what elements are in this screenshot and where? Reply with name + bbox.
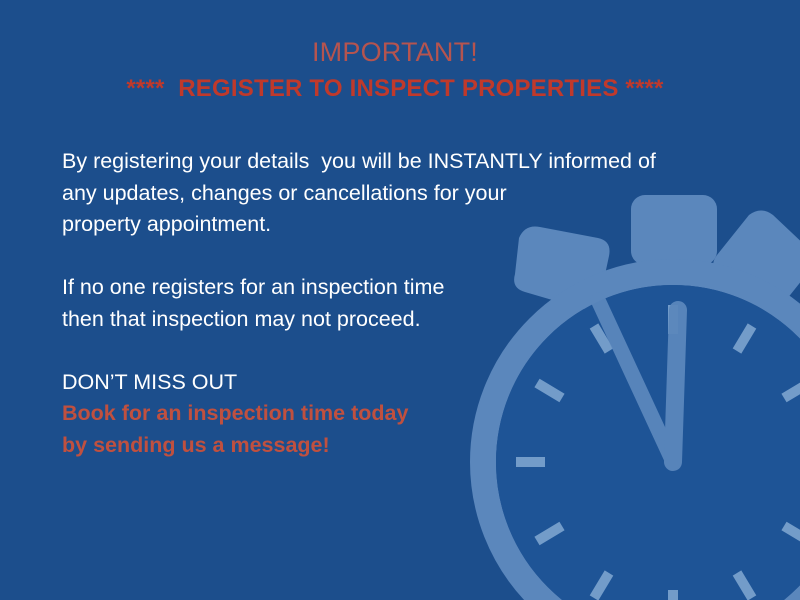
slide-canvas: IMPORTANT! **** REGISTER TO INSPECT PROP… xyxy=(0,0,800,600)
paragraph-dont-miss-out: DON’T MISS OUT xyxy=(62,367,722,399)
slide-text-content: IMPORTANT! **** REGISTER TO INSPECT PROP… xyxy=(0,0,800,600)
headline-register-to-inspect: **** REGISTER TO INSPECT PROPERTIES **** xyxy=(0,70,790,108)
paragraph-no-registrations: If no one registers for an inspection ti… xyxy=(62,272,722,335)
paragraph-registering-details: By registering your details you will be … xyxy=(62,146,722,241)
body-block: By registering your details you will be … xyxy=(62,146,722,461)
paragraph-spacer-1 xyxy=(62,241,722,273)
paragraph-call-to-action: Book for an inspection time today by sen… xyxy=(62,398,722,461)
paragraph-spacer-2 xyxy=(62,335,722,367)
headline-important: IMPORTANT! xyxy=(0,34,790,70)
headline-block: IMPORTANT! **** REGISTER TO INSPECT PROP… xyxy=(0,34,790,108)
